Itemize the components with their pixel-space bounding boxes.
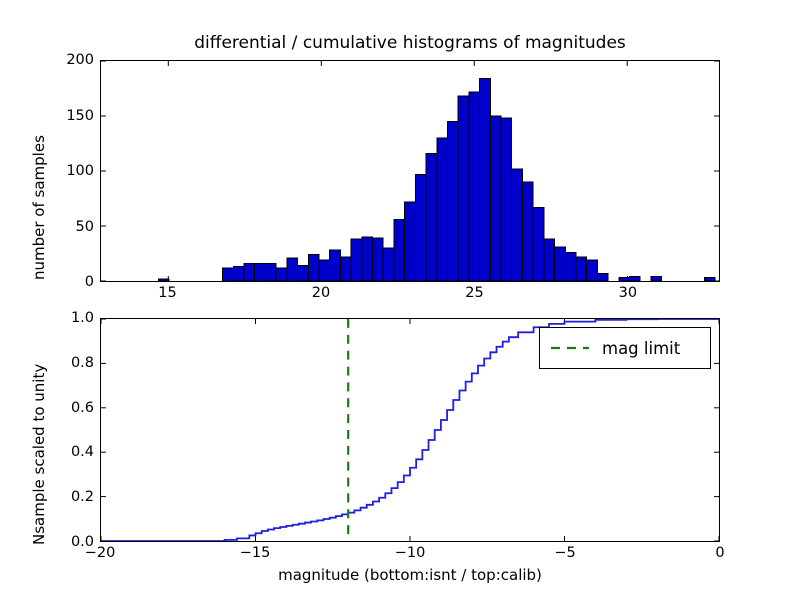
x-tick-label: −10: [395, 545, 426, 561]
top-panel-x-tick-labels: 15202530: [100, 285, 720, 307]
x-tick-label: −15: [240, 545, 271, 561]
x-tick-label: 0: [715, 545, 724, 561]
histogram-svg: [101, 61, 719, 281]
x-tick-label: 20: [312, 285, 330, 301]
legend-label-mag-limit: mag limit: [602, 339, 680, 358]
y-tick-label: 150: [34, 108, 94, 124]
page-title: differential / cumulative histograms of …: [100, 33, 720, 53]
x-tick-label: −20: [85, 545, 116, 561]
bottom-panel-y-axis-label: Nsample scaled to unity: [30, 364, 48, 545]
bottom-panel-x-tick-labels: −20−15−10−50: [100, 545, 720, 567]
x-tick-label: 15: [158, 285, 176, 301]
x-tick-label: 30: [619, 285, 637, 301]
legend: mag limit: [539, 327, 711, 369]
top-panel-histogram-plot: [100, 60, 720, 282]
mag-limit-legend-swatch: [550, 342, 590, 354]
y-tick-label: 200: [34, 52, 94, 68]
top-panel-y-axis-label: number of samples: [30, 135, 48, 280]
x-tick-label: 25: [465, 285, 483, 301]
x-axis-label: magnitude (bottom:isnt / top:calib): [100, 566, 720, 584]
y-tick-label: 1.0: [34, 310, 94, 326]
figure-canvas: differential / cumulative histograms of …: [0, 0, 800, 600]
x-tick-label: −5: [554, 545, 575, 561]
